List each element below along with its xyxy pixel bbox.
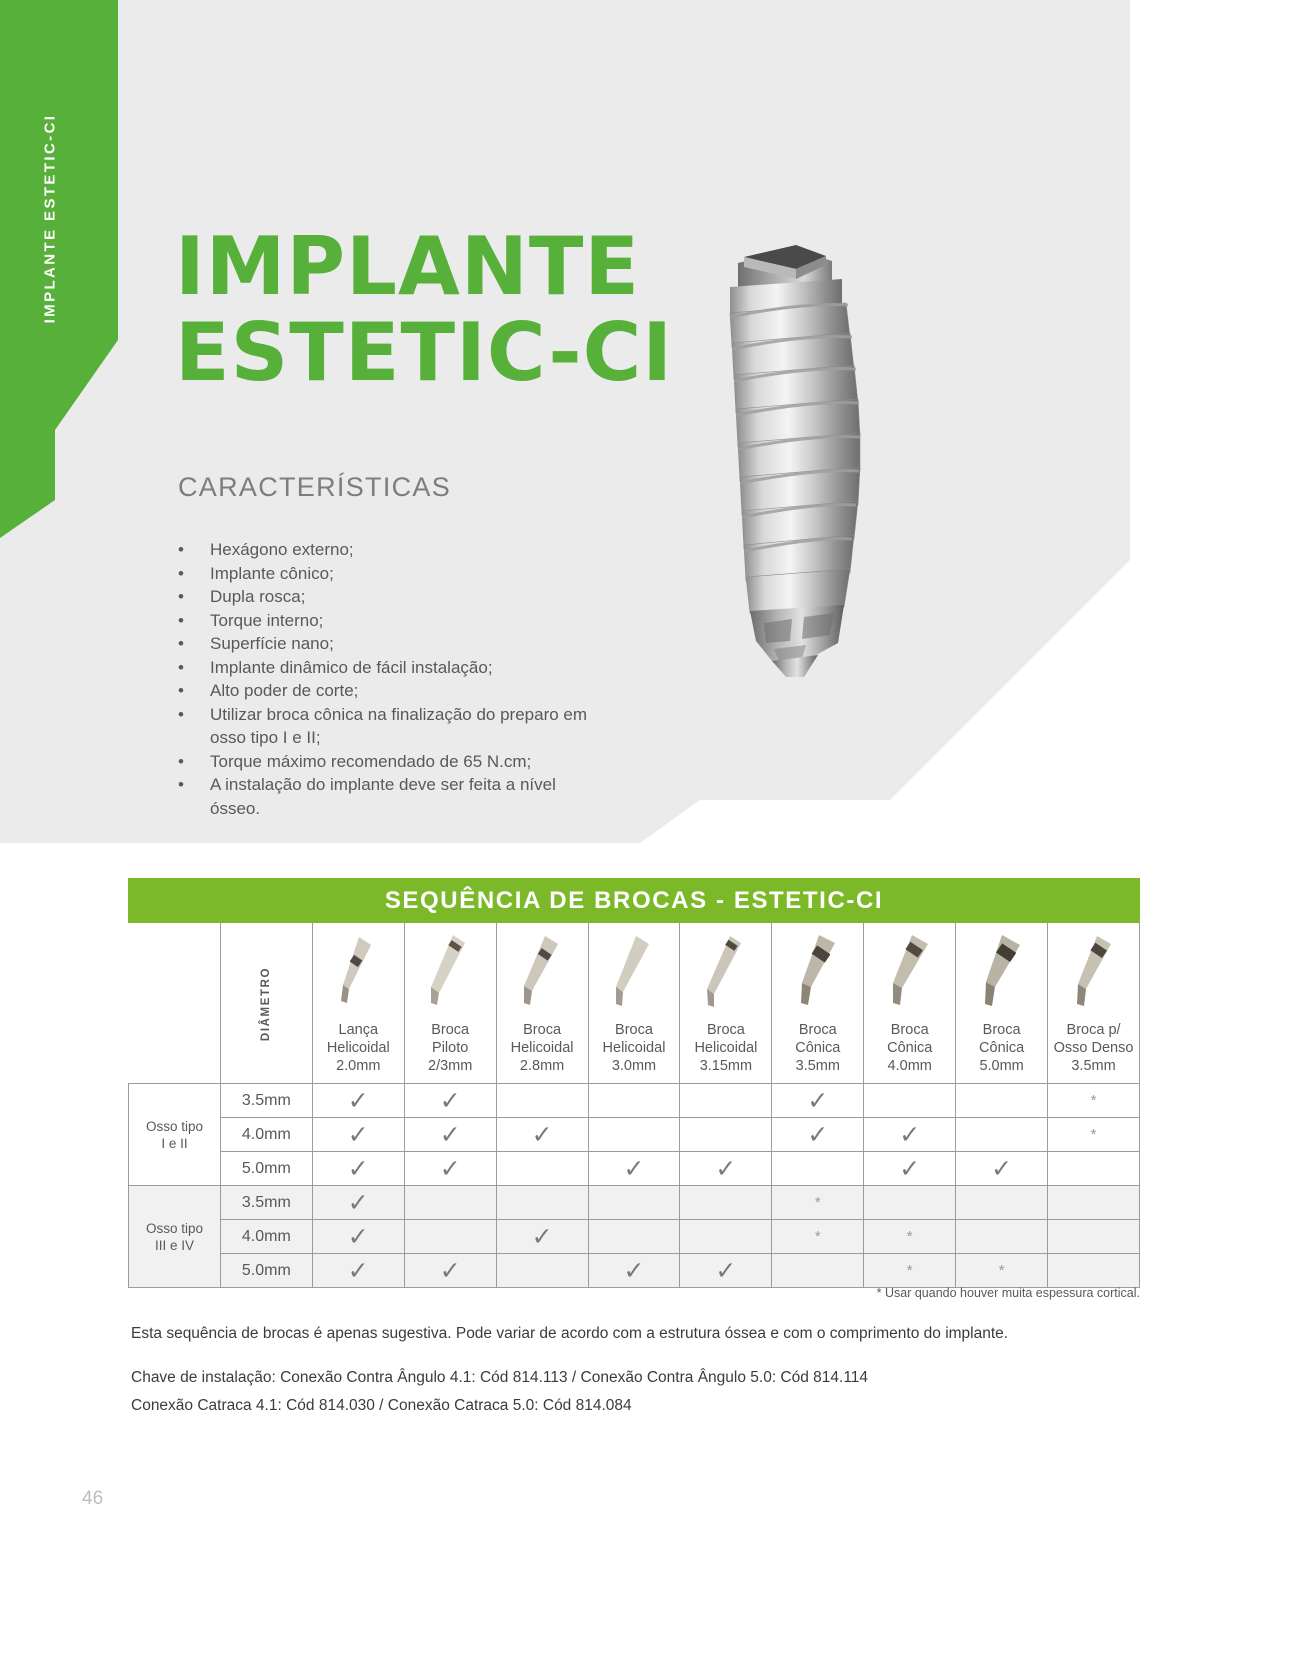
- bullet-icon: •: [178, 773, 210, 820]
- compatibility-cell: [772, 1152, 864, 1186]
- compatibility-cell: ✓: [404, 1084, 496, 1118]
- compatibility-cell: *: [864, 1254, 956, 1288]
- compatibility-cell: [680, 1084, 772, 1118]
- drill-label-line-3: 3.5mm: [774, 1057, 861, 1075]
- table-banner-row: SEQUÊNCIA DE BROCAS - ESTETIC-CI: [129, 879, 1140, 923]
- feature-item-label: Hexágono externo;: [210, 538, 598, 562]
- check-icon: ✓: [807, 1122, 828, 1147]
- drill-column-label: Broca p/Osso Denso3.5mm: [1050, 1017, 1137, 1075]
- title-line-1: IMPLANTE: [175, 228, 673, 306]
- drill-label-line-2: Piloto: [407, 1039, 494, 1057]
- compatibility-cell: *: [1048, 1118, 1140, 1152]
- compatibility-cell: [680, 1220, 772, 1254]
- feature-item-label: Superfície nano;: [210, 632, 598, 656]
- check-icon: ✓: [532, 1224, 553, 1249]
- drill-bit-icon: [866, 929, 953, 1017]
- drill-column-label: BrocaHelicoidal3.15mm: [682, 1017, 769, 1075]
- check-icon: ✓: [348, 1258, 369, 1283]
- asterisk-icon: *: [907, 1229, 913, 1244]
- feature-item-label: Implante cônico;: [210, 562, 598, 586]
- drill-label-line-2: Osso Denso: [1050, 1039, 1137, 1057]
- check-icon: ✓: [715, 1156, 736, 1181]
- compatibility-cell: [1048, 1220, 1140, 1254]
- compatibility-cell: [496, 1152, 588, 1186]
- drill-bit-icon: [499, 929, 586, 1017]
- drill-column-header: BrocaCônica4.0mm: [864, 923, 956, 1084]
- drill-label-line-3: 2.8mm: [499, 1057, 586, 1075]
- bone-type-label: Osso tipoI e II: [129, 1084, 221, 1186]
- drill-label-line-3: 2.0mm: [315, 1057, 402, 1075]
- bone-type-label: Osso tipoIII e IV: [129, 1186, 221, 1288]
- bone-type-line-2: I e II: [129, 1135, 220, 1152]
- feature-item: •A instalação do implante deve ser feita…: [178, 773, 598, 820]
- compatibility-cell: ✓: [312, 1220, 404, 1254]
- compatibility-cell: ✓: [404, 1152, 496, 1186]
- compatibility-cell: ✓: [496, 1220, 588, 1254]
- compatibility-cell: ✓: [864, 1152, 956, 1186]
- drill-label-line-1: Broca: [774, 1021, 861, 1039]
- compatibility-cell: *: [864, 1220, 956, 1254]
- check-icon: ✓: [348, 1224, 369, 1249]
- diameter-header-spacer: [129, 923, 221, 1084]
- drill-column-header: BrocaCônica5.0mm: [956, 923, 1048, 1084]
- compatibility-cell: ✓: [312, 1118, 404, 1152]
- diameter-size-cell: 4.0mm: [220, 1220, 312, 1254]
- features-list: •Hexágono externo;•Implante cônico;•Dupl…: [178, 538, 598, 820]
- drill-column-header: BrocaHelicoidal3.0mm: [588, 923, 680, 1084]
- compatibility-cell: [404, 1220, 496, 1254]
- feature-item-label: A instalação do implante deve ser feita …: [210, 773, 598, 820]
- feature-item: •Hexágono externo;: [178, 538, 598, 562]
- bullet-icon: •: [178, 562, 210, 586]
- diameter-size-cell: 4.0mm: [220, 1118, 312, 1152]
- compatibility-cell: ✓: [404, 1254, 496, 1288]
- check-icon: ✓: [440, 1122, 461, 1147]
- feature-item-label: Alto poder de corte;: [210, 679, 598, 703]
- compatibility-cell: [404, 1186, 496, 1220]
- hero-section: IMPLANTE ESTETIC-CI IMPLANTE ESTETIC-CI …: [0, 0, 1300, 845]
- check-icon: ✓: [440, 1088, 461, 1113]
- asterisk-icon: *: [1091, 1093, 1097, 1108]
- drill-label-line-1: Lança: [315, 1021, 402, 1039]
- drill-label-line-2: Cônica: [774, 1039, 861, 1057]
- diameter-size-cell: 3.5mm: [220, 1186, 312, 1220]
- bone-type-line-2: III e IV: [129, 1237, 220, 1254]
- compatibility-cell: [588, 1084, 680, 1118]
- compatibility-cell: [680, 1186, 772, 1220]
- bullet-icon: •: [178, 656, 210, 680]
- feature-item-label: Implante dinâmico de fácil instalação;: [210, 656, 598, 680]
- check-icon: ✓: [624, 1156, 645, 1181]
- compatibility-cell: ✓: [312, 1084, 404, 1118]
- drill-label-line-1: Broca: [866, 1021, 953, 1039]
- feature-item: •Superfície nano;: [178, 632, 598, 656]
- drill-label-line-1: Broca p/: [1050, 1021, 1137, 1039]
- drill-sequence-table: SEQUÊNCIA DE BROCAS - ESTETIC-CI DIÂMETR…: [128, 878, 1140, 1288]
- drill-label-line-2: Cônica: [958, 1039, 1045, 1057]
- diameter-header: DIÂMETRO: [220, 923, 312, 1084]
- compatibility-cell: [1048, 1152, 1140, 1186]
- drill-column-header: Broca p/Osso Denso3.5mm: [1048, 923, 1140, 1084]
- compatibility-cell: *: [956, 1254, 1048, 1288]
- table-body: Osso tipoI e II3.5mm✓✓✓*4.0mm✓✓✓✓✓*5.0mm…: [129, 1084, 1140, 1288]
- compatibility-cell: ✓: [588, 1152, 680, 1186]
- feature-item-label: Utilizar broca cônica na finalização do …: [210, 703, 598, 750]
- compatibility-cell: *: [772, 1186, 864, 1220]
- drill-column-label: BrocaCônica3.5mm: [774, 1017, 861, 1075]
- check-icon: ✓: [899, 1156, 920, 1181]
- drill-column-label: BrocaCônica4.0mm: [866, 1017, 953, 1075]
- compatibility-cell: *: [1048, 1084, 1140, 1118]
- side-tab-label: IMPLANTE ESTETIC-CI: [42, 49, 59, 389]
- diameter-header-label: DIÂMETRO: [260, 967, 272, 1041]
- feature-item: •Dupla rosca;: [178, 585, 598, 609]
- page-title: IMPLANTE ESTETIC-CI: [175, 228, 673, 393]
- drill-bit-icon: [315, 929, 402, 1017]
- table-row: 4.0mm✓✓**: [129, 1220, 1140, 1254]
- drill-column-header: BrocaPiloto2/3mm: [404, 923, 496, 1084]
- compatibility-cell: [496, 1254, 588, 1288]
- compatibility-cell: [496, 1186, 588, 1220]
- check-icon: ✓: [532, 1122, 553, 1147]
- bullet-icon: •: [178, 703, 210, 750]
- drill-label-line-2: Helicoidal: [315, 1039, 402, 1057]
- compatibility-cell: [772, 1254, 864, 1288]
- drill-label-line-3: 4.0mm: [866, 1057, 953, 1075]
- note-line-1: Esta sequência de brocas é apenas sugest…: [131, 1320, 1141, 1348]
- feature-item: •Utilizar broca cônica na finalização do…: [178, 703, 598, 750]
- table-banner: SEQUÊNCIA DE BROCAS - ESTETIC-CI: [129, 879, 1140, 923]
- bullet-icon: •: [178, 585, 210, 609]
- check-icon: ✓: [991, 1156, 1012, 1181]
- table-row: Osso tipoIII e IV3.5mm✓*: [129, 1186, 1140, 1220]
- diameter-size-cell: 3.5mm: [220, 1084, 312, 1118]
- drill-column-header: BrocaHelicoidal2.8mm: [496, 923, 588, 1084]
- feature-item: •Torque máximo recomendado de 65 N.cm;: [178, 750, 598, 774]
- table-row: 4.0mm✓✓✓✓✓*: [129, 1118, 1140, 1152]
- implant-image: [700, 225, 910, 705]
- drill-column-label: BrocaCônica5.0mm: [958, 1017, 1045, 1075]
- compatibility-cell: ✓: [312, 1254, 404, 1288]
- drill-label-line-2: Helicoidal: [682, 1039, 769, 1057]
- check-icon: ✓: [624, 1258, 645, 1283]
- drill-column-label: BrocaHelicoidal3.0mm: [591, 1017, 678, 1075]
- check-icon: ✓: [348, 1088, 369, 1113]
- feature-item-label: Dupla rosca;: [210, 585, 598, 609]
- feature-item: •Implante dinâmico de fácil instalação;: [178, 656, 598, 680]
- check-icon: ✓: [348, 1156, 369, 1181]
- drill-sequence-table-area: SEQUÊNCIA DE BROCAS - ESTETIC-CI DIÂMETR…: [128, 878, 1140, 1288]
- check-icon: ✓: [807, 1088, 828, 1113]
- section-subtitle: CARACTERÍSTICAS: [178, 472, 451, 503]
- table-footnote: * Usar quando houver muita espessura cor…: [128, 1286, 1140, 1300]
- drill-bit-icon: [407, 929, 494, 1017]
- drill-label-line-3: 5.0mm: [958, 1057, 1045, 1075]
- title-line-2: ESTETIC-CI: [175, 314, 673, 392]
- compatibility-cell: ✓: [772, 1118, 864, 1152]
- drill-label-line-1: Broca: [499, 1021, 586, 1039]
- feature-item-label: Torque máximo recomendado de 65 N.cm;: [210, 750, 598, 774]
- compatibility-cell: ✓: [680, 1152, 772, 1186]
- asterisk-icon: *: [999, 1263, 1005, 1278]
- note-line-3: Conexão Catraca 4.1: Cód 814.030 / Conex…: [131, 1392, 1141, 1420]
- drill-label-line-3: 3.15mm: [682, 1057, 769, 1075]
- bone-type-line-1: Osso tipo: [129, 1220, 220, 1237]
- compatibility-cell: [680, 1118, 772, 1152]
- drill-column-header: BrocaHelicoidal3.15mm: [680, 923, 772, 1084]
- feature-item: •Alto poder de corte;: [178, 679, 598, 703]
- check-icon: ✓: [348, 1122, 369, 1147]
- compatibility-cell: [496, 1084, 588, 1118]
- compatibility-cell: [956, 1220, 1048, 1254]
- bullet-icon: •: [178, 750, 210, 774]
- compatibility-cell: [1048, 1254, 1140, 1288]
- check-icon: ✓: [440, 1258, 461, 1283]
- drill-label-line-2: Helicoidal: [591, 1039, 678, 1057]
- drill-column-label: BrocaHelicoidal2.8mm: [499, 1017, 586, 1075]
- compatibility-cell: [1048, 1186, 1140, 1220]
- diameter-size-cell: 5.0mm: [220, 1152, 312, 1186]
- drill-label-line-1: Broca: [682, 1021, 769, 1039]
- compatibility-cell: ✓: [588, 1254, 680, 1288]
- compatibility-cell: ✓: [312, 1152, 404, 1186]
- asterisk-icon: *: [907, 1263, 913, 1278]
- drill-label-line-3: 2/3mm: [407, 1057, 494, 1075]
- check-icon: ✓: [440, 1156, 461, 1181]
- compatibility-cell: ✓: [496, 1118, 588, 1152]
- asterisk-icon: *: [815, 1229, 821, 1244]
- drill-bit-icon: [1050, 929, 1137, 1017]
- drill-label-line-3: 3.5mm: [1050, 1057, 1137, 1075]
- bullet-icon: •: [178, 538, 210, 562]
- drill-label-line-1: Broca: [958, 1021, 1045, 1039]
- table-row: Osso tipoI e II3.5mm✓✓✓*: [129, 1084, 1140, 1118]
- check-icon: ✓: [348, 1190, 369, 1215]
- compatibility-cell: [588, 1220, 680, 1254]
- compatibility-cell: [956, 1084, 1048, 1118]
- drill-bit-icon: [958, 929, 1045, 1017]
- asterisk-icon: *: [1091, 1127, 1097, 1142]
- drill-bit-icon: [682, 929, 769, 1017]
- table-header-row: DIÂMETRO LançaHelicoidal2.0mmBrocaPiloto…: [129, 923, 1140, 1084]
- compatibility-cell: ✓: [680, 1254, 772, 1288]
- compatibility-cell: [864, 1186, 956, 1220]
- drill-label-line-3: 3.0mm: [591, 1057, 678, 1075]
- asterisk-icon: *: [815, 1195, 821, 1210]
- compatibility-cell: [864, 1084, 956, 1118]
- compatibility-cell: ✓: [864, 1118, 956, 1152]
- notes-block: Esta sequência de brocas é apenas sugest…: [131, 1320, 1141, 1420]
- drill-label-line-2: Helicoidal: [499, 1039, 586, 1057]
- table-row: 5.0mm✓✓✓✓**: [129, 1254, 1140, 1288]
- feature-item: •Torque interno;: [178, 609, 598, 633]
- compatibility-cell: ✓: [312, 1186, 404, 1220]
- check-icon: ✓: [715, 1258, 736, 1283]
- feature-item-label: Torque interno;: [210, 609, 598, 633]
- diameter-size-cell: 5.0mm: [220, 1254, 312, 1288]
- drill-label-line-1: Broca: [407, 1021, 494, 1039]
- compatibility-cell: ✓: [956, 1152, 1048, 1186]
- bullet-icon: •: [178, 632, 210, 656]
- drill-column-label: BrocaPiloto2/3mm: [407, 1017, 494, 1075]
- compatibility-cell: [588, 1118, 680, 1152]
- bullet-icon: •: [178, 679, 210, 703]
- check-icon: ✓: [899, 1122, 920, 1147]
- compatibility-cell: ✓: [404, 1118, 496, 1152]
- feature-item: •Implante cônico;: [178, 562, 598, 586]
- compatibility-cell: [956, 1118, 1048, 1152]
- table-row: 5.0mm✓✓✓✓✓✓: [129, 1152, 1140, 1186]
- compatibility-cell: [588, 1186, 680, 1220]
- drill-label-line-1: Broca: [591, 1021, 678, 1039]
- drill-label-line-2: Cônica: [866, 1039, 953, 1057]
- compatibility-cell: ✓: [772, 1084, 864, 1118]
- page-number: 46: [82, 1488, 103, 1510]
- compatibility-cell: *: [772, 1220, 864, 1254]
- drill-bit-icon: [591, 929, 678, 1017]
- bullet-icon: •: [178, 609, 210, 633]
- drill-column-header: BrocaCônica3.5mm: [772, 923, 864, 1084]
- drill-bit-icon: [774, 929, 861, 1017]
- bone-type-line-1: Osso tipo: [129, 1118, 220, 1135]
- drill-column-label: LançaHelicoidal2.0mm: [315, 1017, 402, 1075]
- drill-column-header: LançaHelicoidal2.0mm: [312, 923, 404, 1084]
- note-line-2: Chave de instalação: Conexão Contra Ângu…: [131, 1364, 1141, 1392]
- compatibility-cell: [956, 1186, 1048, 1220]
